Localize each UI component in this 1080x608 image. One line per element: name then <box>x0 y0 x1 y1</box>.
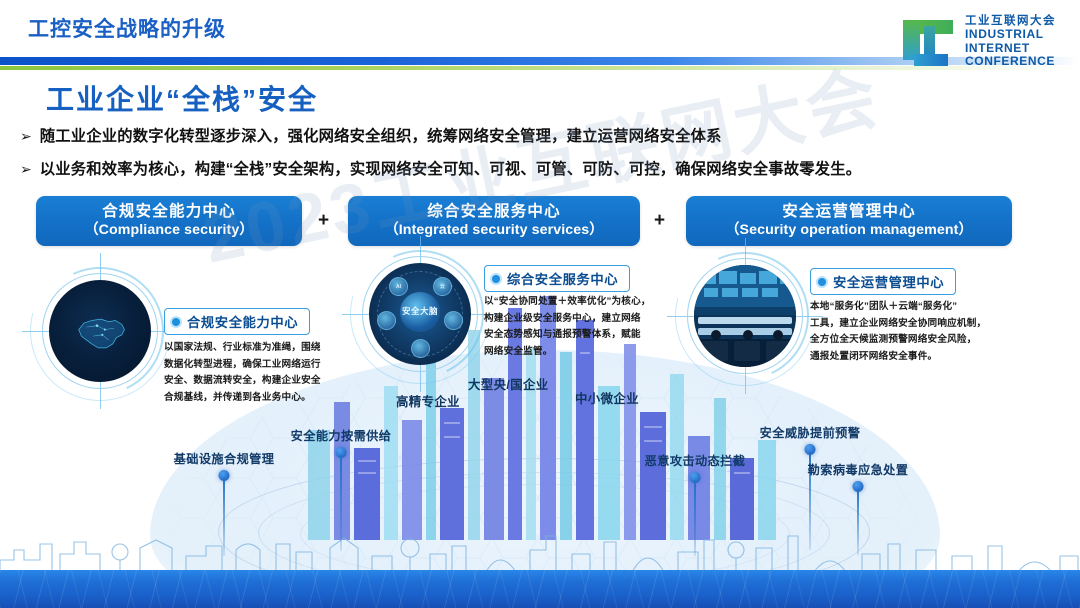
brain-node-situational-awareness <box>411 339 430 358</box>
pin-label: 基础设施合规管理 <box>174 449 275 467</box>
brain-node-bigdata <box>377 311 396 330</box>
panel-2-circle: 安全大脑 AI 云 <box>362 256 478 372</box>
panel-1-label: 合规安全能力中心 <box>164 308 310 335</box>
water-base-band <box>0 570 1080 608</box>
industrial-silhouette-icon <box>0 530 1080 572</box>
panel-3-body-line: 通报处置闭环网络安全事件。 <box>810 349 986 366</box>
bullet-text: 随工业企业的数字化转型逐步深入，强化网络安全组织，统筹网络安全管理，建立运营网络… <box>40 126 722 148</box>
pill-label-cn: 综合安全服务中心 <box>427 203 561 221</box>
bullet-dot-icon <box>818 278 826 286</box>
panel-1-circle <box>42 273 158 389</box>
china-map-outline-icon <box>67 307 132 360</box>
tier-label-specialized: 高精专企业 <box>396 392 460 410</box>
logo-en-line3: CONFERENCE <box>965 55 1056 68</box>
pin-stem <box>694 480 696 556</box>
panel-1-body-line: 安全、数据流转安全，构建企业安全 <box>164 373 321 390</box>
logo-text: 工业互联网大会 INDUSTRIAL INTERNET CONFERENCE <box>965 15 1056 68</box>
pill-label-en: （Compliance security） <box>84 222 253 239</box>
panel-3-label: 安全运营管理中心 <box>810 268 956 295</box>
pill-label-en: （Security operation management） <box>725 222 973 239</box>
panel-1-body-line: 合规基线，并传递到各业务中心。 <box>164 390 321 407</box>
panel-1-body-line: 数据化转型进程，确保工业网络运行 <box>164 357 321 374</box>
pill-security-operation-management[interactable]: 安全运营管理中心 （Security operation management） <box>686 196 1012 246</box>
security-brain-icon: 安全大脑 AI 云 <box>369 263 471 365</box>
panel-2-body-line: 构建企业级安全服务中心，建立网络 <box>484 311 651 328</box>
conference-logo: 工业互联网大会 INDUSTRIAL INTERNET CONFERENCE <box>900 14 1056 70</box>
pin-stem <box>857 489 859 555</box>
panel-2-body-line: 网络安全监管。 <box>484 344 651 361</box>
plus-sign-1: + <box>318 210 329 232</box>
bullet-text: 以业务和效率为核心，构建“全栈”安全架构，实现网络安全可知、可视、可管、可防、可… <box>40 159 862 181</box>
bullet-dot-icon <box>492 275 500 283</box>
bullet-arrow-icon: ➢ <box>20 159 32 179</box>
panel-1-body-line: 以国家法规、行业标准为准绳，围绕 <box>164 340 321 357</box>
panel-1-body: 以国家法规、行业标准为准绳，围绕 数据化转型进程，确保工业网络运行 安全、数据流… <box>164 340 321 406</box>
pill-integrated-security-services[interactable]: 综合安全服务中心 （Integrated security services） <box>348 196 640 246</box>
panel-2-label-text: 综合安全服务中心 <box>507 272 618 287</box>
panel-3-body-line: 工具，建立企业网络安全协同响应机制， <box>810 316 986 333</box>
panel-2-body: 以“安全协同处置＋效率优化”为核心， 构建企业级安全服务中心，建立网络 安全态势… <box>484 294 651 360</box>
pin-stem <box>223 478 225 556</box>
slide-root: 工控安全战略的升级 工业互联网大会 INDUSTRIAL INTERNET CO… <box>0 0 1080 608</box>
noc-room-illustration-icon <box>694 265 796 367</box>
pill-label-cn: 合规安全能力中心 <box>102 203 236 221</box>
pin-label: 安全威胁提前预警 <box>760 423 861 441</box>
brain-node-ai: AI <box>389 277 408 296</box>
tier-label-large-enterprise: 大型央/国企业 <box>468 375 549 393</box>
panel-3-circle <box>687 258 803 374</box>
section-subtitle: 工业企业“全栈”安全 <box>46 78 318 118</box>
tier-label-sme: 中小微企业 <box>575 389 639 407</box>
page-title: 工控安全战略的升级 <box>28 13 226 43</box>
pin-label: 安全能力按需供给 <box>291 426 392 444</box>
panel-3-body-line: 全方位全天候监测预警网络安全风险， <box>810 332 986 349</box>
panel-3-body: 本地“服务化”团队＋云端“服务化” 工具，建立企业网络安全协同响应机制， 全方位… <box>810 299 986 365</box>
bullet-item: ➢ 随工业企业的数字化转型逐步深入，强化网络安全组织，统筹网络安全管理，建立运营… <box>20 126 1070 148</box>
panel-2-body-line: 以“安全协同处置＋效率优化”为核心， <box>484 294 651 311</box>
panel-3-body-line: 本地“服务化”团队＋云端“服务化” <box>810 299 986 316</box>
operations-room-icon <box>694 265 796 367</box>
panel-2-label: 综合安全服务中心 <box>484 265 630 292</box>
bullet-item: ➢ 以业务和效率为核心，构建“全栈”安全架构，实现网络安全可知、可视、可管、可防… <box>20 159 1070 181</box>
panel-3-label-text: 安全运营管理中心 <box>833 275 944 290</box>
pill-label-en: （Integrated security services） <box>384 222 603 239</box>
panel-2-body-line: 安全态势感知与通报预警体系，赋能 <box>484 327 651 344</box>
logo-en-line1: INDUSTRIAL <box>965 28 1056 41</box>
plus-sign-2: + <box>654 210 665 232</box>
brain-core-label: 安全大脑 <box>400 292 440 332</box>
bullet-arrow-icon: ➢ <box>20 126 32 146</box>
panel-1-label-text: 合规安全能力中心 <box>187 315 298 330</box>
bullet-list: ➢ 随工业企业的数字化转型逐步深入，强化网络安全组织，统筹网络安全管理，建立运营… <box>20 126 1070 192</box>
brain-node-iot <box>444 311 463 330</box>
globe-china-map-icon <box>49 280 151 382</box>
logo-mark-icon <box>900 14 956 70</box>
pin-stem <box>340 455 342 551</box>
bullet-dot-icon <box>172 318 180 326</box>
pin-label: 恶意攻击动态拦截 <box>645 451 746 469</box>
pill-label-cn: 安全运营管理中心 <box>782 203 916 221</box>
logo-en-line2: INTERNET <box>965 42 1056 55</box>
brain-node-cloud: 云 <box>433 277 452 296</box>
pin-label: 勒索病毒应急处置 <box>808 460 909 478</box>
center-pill-row: 合规安全能力中心 （Compliance security） + 综合安全服务中… <box>0 196 1080 248</box>
pill-compliance-security[interactable]: 合规安全能力中心 （Compliance security） <box>36 196 302 246</box>
